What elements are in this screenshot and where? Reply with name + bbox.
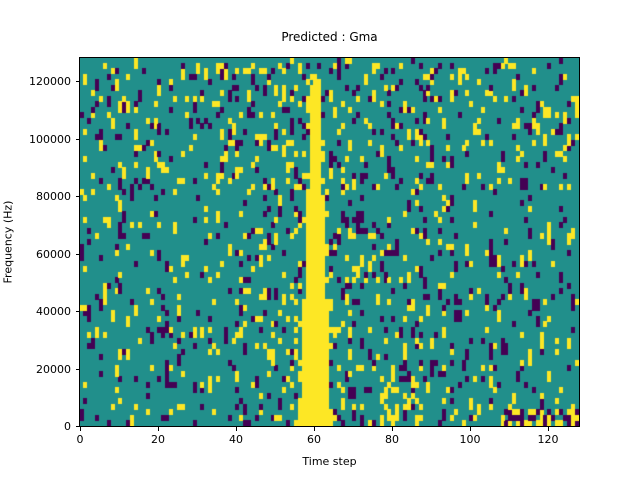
y-axis-label: Frequency (Hz): [2, 201, 15, 284]
y-tick-mark: [76, 196, 80, 197]
x-tick-mark: [392, 427, 393, 431]
y-tick-label: 60000: [0, 249, 71, 260]
y-tick-label: 120000: [0, 76, 71, 87]
y-tick-mark: [76, 369, 80, 370]
y-tick-mark: [76, 139, 80, 140]
x-tick-mark: [80, 427, 81, 431]
y-tick-mark: [76, 426, 80, 427]
y-tick-label: 40000: [0, 306, 71, 317]
y-tick-label: 20000: [0, 364, 71, 375]
page-title: Predicted : Gma: [79, 30, 580, 44]
x-tick-label: 100: [440, 434, 500, 445]
y-tick-mark: [76, 81, 80, 82]
y-tick-mark: [76, 254, 80, 255]
y-tick-label: 100000: [0, 134, 71, 145]
x-tick-label: 20: [128, 434, 188, 445]
x-axis-label: Time step: [79, 455, 580, 468]
x-tick-mark: [470, 427, 471, 431]
x-tick-mark: [548, 427, 549, 431]
x-tick-mark: [236, 427, 237, 431]
y-tick-label: 0: [0, 421, 71, 432]
heatmap-image: [80, 58, 579, 426]
x-tick-label: 80: [362, 434, 422, 445]
y-tick-mark: [76, 311, 80, 312]
y-tick-label: 80000: [0, 191, 71, 202]
x-tick-label: 0: [50, 434, 110, 445]
x-tick-label: 40: [206, 434, 266, 445]
figure-canvas: Predicted : Gma Frequency (Hz) 020000400…: [0, 0, 640, 480]
heatmap-plot-area[interactable]: [79, 57, 580, 427]
x-tick-label: 120: [518, 434, 578, 445]
x-tick-mark: [158, 427, 159, 431]
x-tick-label: 60: [284, 434, 344, 445]
x-tick-mark: [314, 427, 315, 431]
